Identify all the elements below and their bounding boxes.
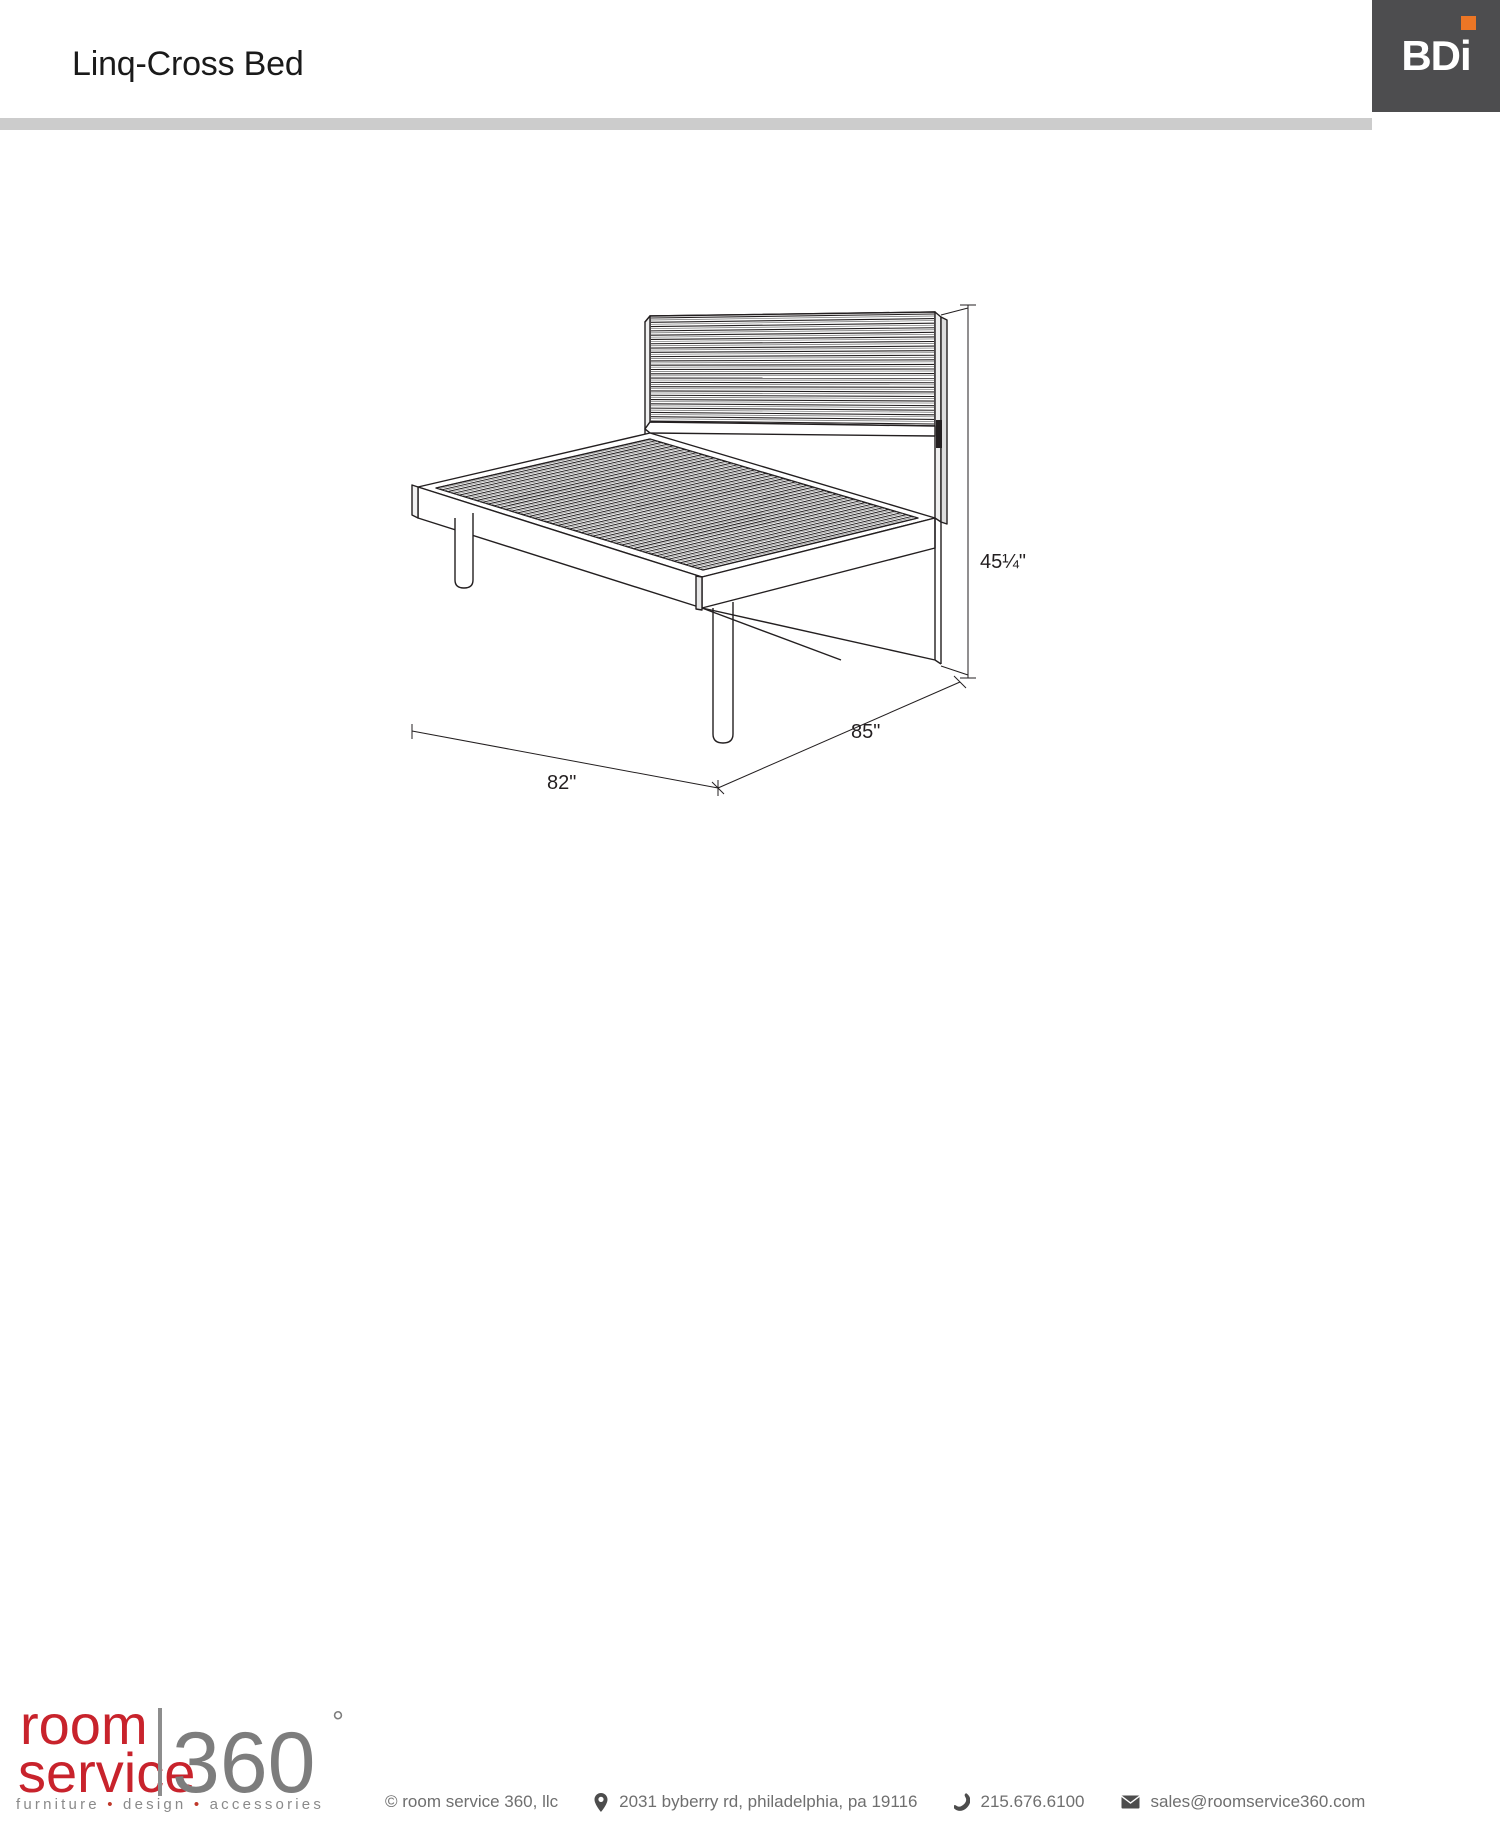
bdi-brand-logo: BDi bbox=[1372, 0, 1500, 112]
logo-service-text: service bbox=[18, 1741, 195, 1804]
envelope-icon bbox=[1121, 1795, 1140, 1809]
bdi-letters: BD bbox=[1401, 32, 1460, 80]
copyright-text: © room service 360, llc bbox=[385, 1792, 558, 1812]
footer-email[interactable]: sales@roomservice360.com bbox=[1121, 1792, 1366, 1812]
bdi-i-letter: i bbox=[1460, 32, 1471, 80]
product-drawing-area: King Size bbox=[0, 130, 1500, 830]
address-text: 2031 byberry rd, philadelphia, pa 19116 bbox=[619, 1792, 917, 1812]
logo-degree-symbol: ° bbox=[332, 1706, 344, 1739]
page-footer: room service 360 ° furniture • design • … bbox=[0, 830, 1500, 1000]
map-pin-icon bbox=[594, 1793, 608, 1812]
bed-technical-drawing: 45¼" 85" 82" bbox=[0, 130, 1500, 830]
phone-icon bbox=[954, 1793, 970, 1811]
bdi-orange-dot bbox=[1461, 16, 1476, 30]
page-title: Linq-Cross Bed bbox=[72, 45, 304, 84]
header-divider bbox=[0, 118, 1372, 130]
footer-phone[interactable]: 215.676.6100 bbox=[954, 1792, 1085, 1812]
bdi-logo-text: BDi bbox=[1372, 0, 1500, 112]
tagline-accessories: accessories bbox=[210, 1796, 324, 1813]
page-header: Linq-Cross Bed BDi bbox=[0, 0, 1500, 112]
footer-contact-bar: © room service 360, llc 2031 byberry rd,… bbox=[385, 1792, 1365, 1812]
dimension-height-label: 45¼" bbox=[980, 551, 1026, 573]
tagline-design: design bbox=[123, 1796, 186, 1813]
bed-frame bbox=[412, 433, 935, 610]
footer-copyright: © room service 360, llc bbox=[385, 1792, 558, 1812]
dimension-depth-label: 85" bbox=[851, 721, 880, 743]
footer-address: 2031 byberry rd, philadelphia, pa 19116 bbox=[594, 1792, 917, 1812]
tagline-separator-2: • bbox=[194, 1796, 202, 1813]
dimension-width-label: 82" bbox=[547, 772, 576, 794]
tagline-furniture: furniture bbox=[16, 1796, 100, 1813]
bdi-i-glyph: i bbox=[1460, 32, 1471, 79]
email-text: sales@roomservice360.com bbox=[1151, 1792, 1366, 1812]
tagline-separator-1: • bbox=[107, 1796, 115, 1813]
footer-tagline: furniture • design • accessories bbox=[16, 1796, 324, 1813]
phone-text: 215.676.6100 bbox=[981, 1792, 1085, 1812]
